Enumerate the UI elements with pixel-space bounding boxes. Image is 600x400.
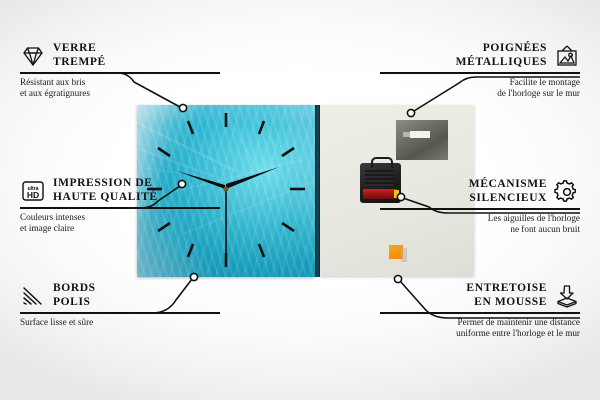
feature-desc-line2: et aux égratignures bbox=[20, 88, 220, 99]
ultra-hd-icon-main: HD bbox=[27, 190, 39, 200]
feature-title-line1: VERRE bbox=[53, 42, 96, 54]
feature-rule bbox=[20, 207, 220, 209]
feature-bords-polis[interactable]: BORDS POLIS Surface lisse et sûre bbox=[20, 282, 220, 328]
foam-spacer-icon bbox=[554, 284, 580, 308]
feature-desc-line2: uniforme entre l'horloge et le mur bbox=[380, 328, 580, 339]
feature-title-line1: MÉCANISME bbox=[469, 178, 547, 190]
feature-title-line2: EN MOUSSE bbox=[474, 296, 547, 308]
feature-rule bbox=[380, 312, 580, 314]
feature-poignees-metalliques[interactable]: POIGNÉES MÉTALLIQUES Facilite le montage… bbox=[380, 42, 580, 99]
feature-title-line2: POLIS bbox=[53, 296, 91, 308]
feature-rule bbox=[20, 72, 220, 74]
feature-desc-line2: ne font aucun bruit bbox=[380, 224, 580, 235]
feature-mecanisme-silencieux[interactable]: MÉCANISME SILENCIEUX Les aiguilles de l'… bbox=[380, 178, 580, 235]
feature-desc-line2: et image claire bbox=[20, 223, 220, 234]
feature-desc-line1: Facilite le montage bbox=[380, 77, 580, 88]
feature-rule bbox=[380, 208, 580, 210]
hanging-frame-icon bbox=[554, 44, 580, 68]
feature-title-line1: POIGNÉES bbox=[483, 42, 547, 54]
feature-rule bbox=[380, 72, 580, 74]
feature-title-line2: HAUTE QUALITÉ bbox=[53, 191, 158, 203]
feature-title-line2: MÉTALLIQUES bbox=[456, 56, 547, 68]
feature-desc-line1: Les aiguilles de l'horloge bbox=[380, 213, 580, 224]
feature-desc-line1: Permet de maintenir une distance bbox=[380, 317, 580, 328]
feature-impression-haute-qualite[interactable]: ultra HD IMPRESSION DE HAUTE QUALITÉ Cou… bbox=[20, 177, 220, 234]
diamond-icon bbox=[20, 44, 46, 68]
feature-desc-line1: Surface lisse et sûre bbox=[20, 317, 220, 328]
feature-desc-line2: de l'horloge sur le mur bbox=[380, 88, 580, 99]
feature-entretoise-en-mousse[interactable]: ENTRETOISE EN MOUSSE Permet de maintenir… bbox=[380, 282, 580, 339]
feature-desc-line1: Résistant aux bris bbox=[20, 77, 220, 88]
feature-title-line1: IMPRESSION DE bbox=[53, 177, 153, 189]
feature-title-line1: BORDS bbox=[53, 282, 96, 294]
gear-icon bbox=[554, 180, 580, 204]
minute-hand bbox=[226, 167, 279, 189]
feature-title-line1: ENTRETOISE bbox=[466, 282, 547, 294]
polished-edge-icon bbox=[20, 284, 46, 308]
feature-title-line2: SILENCIEUX bbox=[469, 192, 547, 204]
feature-verre-trempe[interactable]: VERRE TREMPÉ Résistant aux bris et aux é… bbox=[20, 42, 220, 99]
feature-rule bbox=[20, 312, 220, 314]
ultra-hd-icon: ultra HD bbox=[20, 179, 46, 203]
connector-dot-poignees bbox=[407, 109, 414, 116]
feature-title-line2: TREMPÉ bbox=[53, 56, 106, 68]
infographic-canvas: VERRE TREMPÉ Résistant aux bris et aux é… bbox=[0, 0, 600, 400]
feature-desc-line1: Couleurs intenses bbox=[20, 212, 220, 223]
clock-hub bbox=[223, 186, 228, 191]
